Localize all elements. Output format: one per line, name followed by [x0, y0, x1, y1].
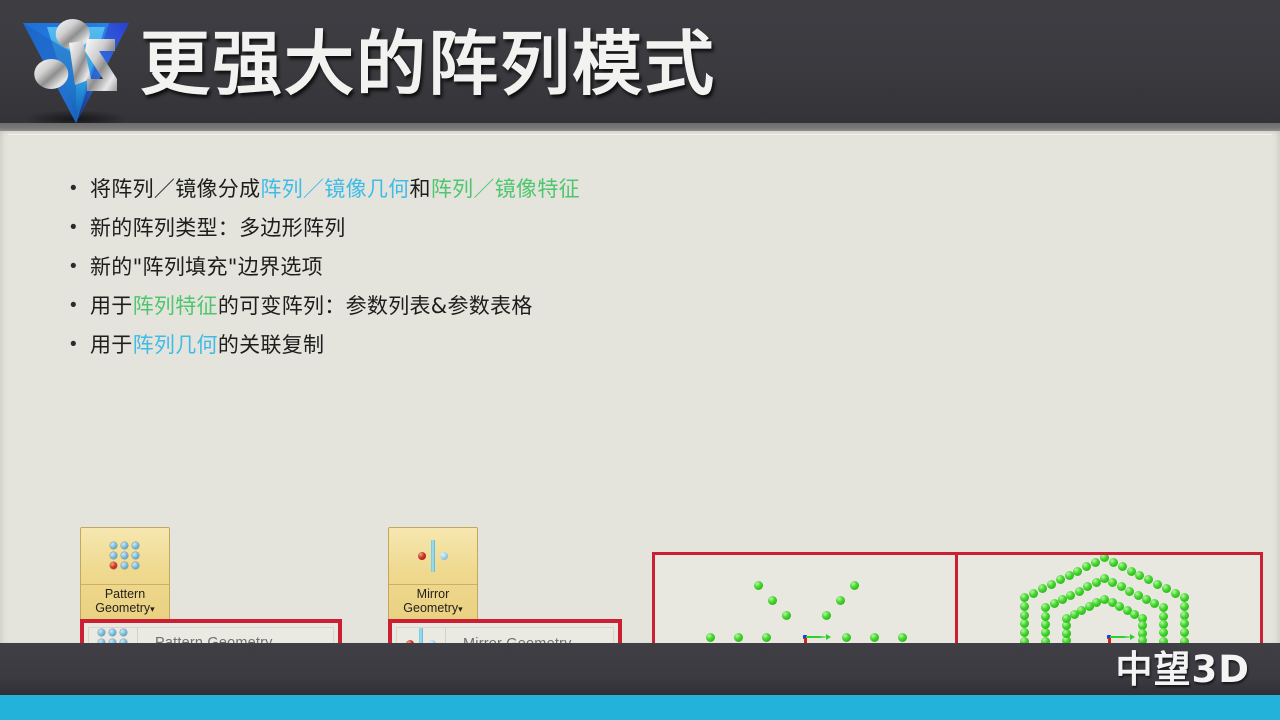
footer-accent-bar	[0, 695, 1280, 720]
pattern-toolbar-group: Pattern Geometry▾ Pattern Geometry	[80, 527, 170, 621]
slide-content: • 将阵列／镜像分成阵列／镜像几何和阵列／镜像特征 • 新的阵列类型：多边形阵列…	[0, 131, 1280, 643]
text-segment: 新的"阵列填充"边界选项	[90, 255, 323, 279]
list-item-text: 新的"阵列填充"边界选项	[90, 252, 323, 282]
pattern-dot	[754, 581, 763, 590]
pattern-dot	[1091, 558, 1100, 567]
pattern-dot	[1159, 628, 1168, 637]
pattern-dot	[1062, 629, 1071, 638]
text-segment: 和	[410, 177, 431, 201]
pattern-dot	[898, 633, 907, 642]
pattern-dot	[1073, 567, 1082, 576]
pattern-dot	[1162, 584, 1171, 593]
bullet-marker: •	[70, 252, 90, 282]
brand-logo-text: 中望3D	[1116, 650, 1250, 690]
pattern-dot	[850, 581, 859, 590]
pattern-geometry-button-icon-area	[81, 528, 169, 585]
pattern-dot	[1038, 584, 1047, 593]
zwsoft-pyramid-logo-icon	[17, 7, 135, 129]
text-segment-highlight: 阵列几何	[133, 333, 218, 357]
chevron-down-icon[interactable]: ▾	[458, 604, 463, 614]
footer-bar	[0, 643, 1280, 695]
pattern-dot	[1041, 628, 1050, 637]
pattern-dot	[1020, 602, 1029, 611]
list-item-text: 将阵列／镜像分成阵列／镜像几何和阵列／镜像特征	[90, 174, 580, 204]
pattern-dot	[1082, 562, 1091, 571]
chevron-down-icon[interactable]: ▾	[150, 604, 155, 614]
pattern-dot	[822, 611, 831, 620]
pattern-dot	[1180, 619, 1189, 628]
pattern-dot	[1180, 602, 1189, 611]
pattern-dot	[1180, 611, 1189, 620]
pattern-dot	[1153, 580, 1162, 589]
list-item-text: 用于阵列几何的关联复制	[90, 330, 324, 360]
pattern-button-label-line2: Geometry	[95, 601, 150, 615]
page-title: 更强大的阵列模式	[140, 14, 716, 114]
coordinate-system-triad	[805, 637, 806, 638]
text-segment: 的可变阵列：参数列表&参数表格	[218, 294, 533, 318]
pattern-dot	[1135, 571, 1144, 580]
coordinate-system-triad	[1109, 637, 1110, 638]
bullet-marker: •	[70, 330, 90, 360]
text-segment: 的关联复制	[218, 333, 325, 357]
pattern-dot	[1020, 593, 1029, 602]
pattern-dot	[1118, 562, 1127, 571]
list-item-text: 新的阵列类型：多边形阵列	[90, 213, 346, 243]
bullet-marker: •	[70, 291, 90, 321]
pattern-dot	[1020, 611, 1029, 620]
pattern-dot	[782, 611, 791, 620]
slide-header: 更强大的阵列模式	[0, 0, 1280, 123]
text-segment-highlight: 阵列特征	[133, 294, 218, 318]
bullet-marker: •	[70, 213, 90, 243]
pattern-geometry-ribbon-button[interactable]: Pattern Geometry▾	[80, 527, 170, 621]
mirror-toolbar-group: Mirror Geometry▾ Mirror Geometry	[388, 527, 478, 621]
mirror-geometry-button-icon-area	[389, 528, 477, 585]
text-segment: 用于	[90, 294, 133, 318]
pattern-dot	[1041, 612, 1050, 621]
pattern-dot	[842, 633, 851, 642]
pattern-dot	[1041, 620, 1050, 629]
mirror-button-label-line2: Geometry	[403, 601, 458, 615]
pattern-dot	[1020, 628, 1029, 637]
mirror-geometry-button-label: Mirror Geometry▾	[389, 585, 477, 620]
pattern-dot	[1125, 587, 1134, 596]
pattern-dot	[1056, 575, 1065, 584]
header-divider	[0, 123, 1280, 131]
pattern-dot	[1109, 558, 1118, 567]
pattern-dot	[1171, 589, 1180, 598]
pattern-dot	[734, 633, 743, 642]
mirror-axis-icon	[413, 539, 453, 573]
text-segment: 新的阵列类型：多边形阵列	[90, 216, 346, 240]
pattern-dot	[1041, 603, 1050, 612]
bullet-list: • 将阵列／镜像分成阵列／镜像几何和阵列／镜像特征 • 新的阵列类型：多边形阵列…	[70, 174, 890, 369]
bullet-marker: •	[70, 174, 90, 204]
pattern-dot	[836, 596, 845, 605]
pattern-dot	[1029, 589, 1038, 598]
pattern-dot	[1180, 628, 1189, 637]
pattern-dot	[1047, 580, 1056, 589]
pattern-dot	[1144, 575, 1153, 584]
text-segment-highlight: 阵列／镜像特征	[431, 177, 580, 201]
pattern-dot	[1083, 582, 1092, 591]
list-item: • 用于阵列几何的关联复制	[70, 330, 890, 369]
list-item: • 新的阵列类型：多边形阵列	[70, 213, 890, 252]
text-segment-highlight: 阵列／镜像几何	[260, 177, 409, 201]
pattern-dot	[706, 633, 715, 642]
pattern-dot	[1159, 603, 1168, 612]
mirror-button-label-line1: Mirror	[389, 587, 477, 601]
pattern-dot	[1127, 567, 1136, 576]
pattern-button-label-line1: Pattern	[81, 587, 169, 601]
mirror-geometry-ribbon-button[interactable]: Mirror Geometry▾	[388, 527, 478, 621]
pattern-dot	[1180, 593, 1189, 602]
list-item-text: 用于阵列特征的可变阵列：参数列表&参数表格	[90, 291, 533, 321]
list-item: • 用于阵列特征的可变阵列：参数列表&参数表格	[70, 291, 890, 330]
pattern-dot	[1065, 571, 1074, 580]
pattern-dot	[870, 633, 879, 642]
pattern-dot	[762, 633, 771, 642]
presentation-slide: 更强大的阵列模式 • 将阵列／镜像分成阵列／镜像几何和阵列／镜像特征 • 新的阵…	[0, 0, 1280, 720]
pattern-dot	[1020, 619, 1029, 628]
pattern-geometry-button-label: Pattern Geometry▾	[81, 585, 169, 620]
text-segment: 用于	[90, 333, 133, 357]
list-item: • 新的"阵列填充"边界选项	[70, 252, 890, 291]
list-item: • 将阵列／镜像分成阵列／镜像几何和阵列／镜像特征	[70, 174, 890, 213]
pattern-dot	[1100, 555, 1109, 562]
pattern-dot	[1066, 591, 1075, 600]
text-segment: 将阵列／镜像分成	[90, 177, 260, 201]
pattern-dot	[768, 596, 777, 605]
dot-grid-icon	[108, 541, 142, 571]
